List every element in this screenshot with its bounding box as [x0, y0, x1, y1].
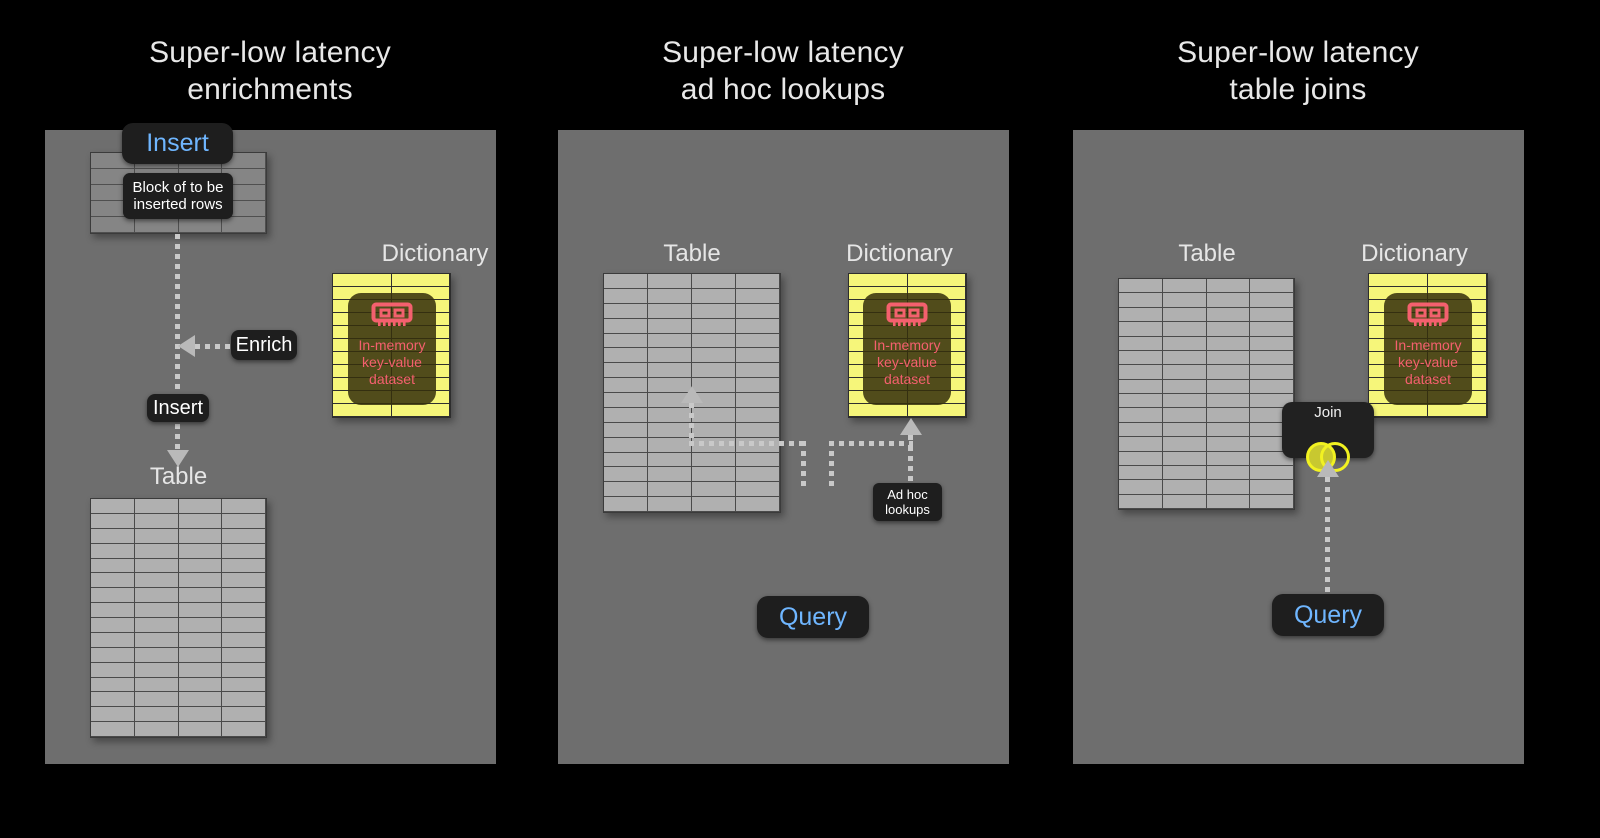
in-memory-overlay-3: In-memory key-value dataset: [1384, 293, 1472, 405]
grid-cell: [1163, 351, 1207, 365]
grid-cell: [135, 663, 179, 678]
grid-cell: [1119, 279, 1163, 293]
grid-cell: [692, 334, 736, 349]
grid-cell: [1207, 308, 1251, 322]
grid-cell: [692, 467, 736, 482]
grid-cell: [135, 692, 179, 707]
in-memory-text-2: In-memory key-value dataset: [874, 337, 941, 388]
grid-cell: [179, 603, 223, 618]
grid-cell: [1163, 365, 1207, 379]
grid-cell: [91, 529, 135, 544]
grid-cell: [135, 603, 179, 618]
grid-cell: [135, 514, 179, 529]
grid-cell: [1207, 380, 1251, 394]
grid-cell: [1250, 365, 1294, 379]
grid-cell: [222, 559, 266, 574]
grid-cell: [648, 453, 692, 468]
grid-cell: [91, 559, 135, 574]
grid-cell: [648, 363, 692, 378]
grid-cell: [1207, 437, 1251, 451]
grid-cell: [736, 334, 780, 349]
grid-cell: [91, 648, 135, 663]
grid-cell: [1163, 408, 1207, 422]
grid-cell: [91, 514, 135, 529]
grid-cell: [736, 348, 780, 363]
grid-cell: [222, 544, 266, 559]
grid-cell: [604, 467, 648, 482]
grid-cell: [604, 348, 648, 363]
grid-cell: [648, 408, 692, 423]
grid-cell: [91, 633, 135, 648]
connector-enrich-left: [195, 344, 231, 349]
grid-cell: [1428, 274, 1487, 287]
grid-cell: [222, 514, 266, 529]
grid-cell: [135, 544, 179, 559]
grid-cell: [1207, 322, 1251, 336]
grid-cell: [1369, 274, 1428, 287]
grid-cell: [604, 423, 648, 438]
grid-cell: [222, 722, 266, 737]
grid-cell: [222, 618, 266, 633]
badge-ad-hoc-lookups[interactable]: Ad hoc lookups: [873, 483, 942, 521]
grid-cell: [1250, 480, 1294, 494]
grid-cell: [179, 722, 223, 737]
grid-cell: [135, 707, 179, 722]
grid-cell: [604, 482, 648, 497]
grid-cell: [91, 678, 135, 693]
grid-cell: [736, 423, 780, 438]
grid-cell: [1119, 423, 1163, 437]
grid-cell: [1119, 308, 1163, 322]
grid-cell: [1250, 337, 1294, 351]
grid-cell: [1207, 480, 1251, 494]
grid-cell: [604, 304, 648, 319]
ram-icon: [1407, 302, 1449, 333]
grid-cell: [908, 274, 967, 287]
badge-block-caption[interactable]: Block of to be inserted rows: [123, 173, 233, 219]
grid-cell: [604, 334, 648, 349]
grid-cell: [692, 423, 736, 438]
grid-cell: [91, 588, 135, 603]
connector-query-right-riser: [829, 441, 834, 486]
grid-cell: [1163, 423, 1207, 437]
badge-enrich[interactable]: Enrich: [231, 330, 297, 360]
badge-insert-top[interactable]: Insert: [122, 123, 233, 164]
grid-cell: [1207, 495, 1251, 509]
grid-cell: [648, 467, 692, 482]
grid-cell: [135, 499, 179, 514]
connector-query-left-horizontal: [689, 441, 806, 446]
grid-cell: [91, 618, 135, 633]
grid-cell: [1428, 404, 1487, 417]
grid-cell: [648, 274, 692, 289]
grid-cell: [849, 274, 908, 287]
grid-cell: [736, 497, 780, 512]
grid-cell: [908, 404, 967, 417]
panel-ad-hoc-lookups: Table Dictionary In-memory key-value d: [558, 130, 1009, 764]
grid-cell: [1207, 365, 1251, 379]
grid-cell: [1119, 408, 1163, 422]
grid-cell: [222, 648, 266, 663]
grid-cell: [1250, 322, 1294, 336]
join-label: Join: [1314, 405, 1342, 421]
grid-cell: [736, 467, 780, 482]
grid-cell: [179, 529, 223, 544]
grid-cell: [736, 482, 780, 497]
grid-cell: [1250, 308, 1294, 322]
badge-query-2[interactable]: Query: [757, 596, 869, 638]
grid-cell: [1250, 380, 1294, 394]
grid-cell: [91, 707, 135, 722]
grid-cell: [692, 304, 736, 319]
grid-cell: [135, 573, 179, 588]
grid-cell: [222, 603, 266, 618]
grid-cell: [736, 319, 780, 334]
table-grid-3: [1118, 278, 1295, 510]
grid-cell: [1119, 495, 1163, 509]
grid-cell: [222, 217, 266, 233]
grid-cell: [604, 363, 648, 378]
grid-cell: [736, 408, 780, 423]
grid-cell: [179, 678, 223, 693]
table-label-2: Table: [603, 240, 781, 268]
connector-query-left-riser: [801, 441, 806, 486]
badge-join[interactable]: Join: [1282, 402, 1374, 458]
panel-enrichments: Insert Block of to be inserted rows Inse…: [45, 130, 496, 764]
grid-cell: [1163, 337, 1207, 351]
grid-cell: [179, 514, 223, 529]
panel-table-joins: Table Dictionary In-memory key-value d: [1073, 130, 1524, 764]
grid-cell: [1250, 466, 1294, 480]
table-label-1: Table: [90, 463, 267, 491]
grid-cell: [1207, 337, 1251, 351]
grid-cell: [1207, 452, 1251, 466]
grid-cell: [91, 544, 135, 559]
grid-cell: [604, 319, 648, 334]
grid-cell: [1119, 466, 1163, 480]
grid-cell: [648, 319, 692, 334]
grid-cell: [179, 559, 223, 574]
connector-join-vertical: [1325, 477, 1330, 595]
grid-cell: [179, 648, 223, 663]
grid-cell: [648, 423, 692, 438]
grid-cell: [1207, 423, 1251, 437]
grid-cell: [135, 217, 179, 233]
grid-cell: [736, 378, 780, 393]
grid-cell: [91, 692, 135, 707]
grid-cell: [135, 618, 179, 633]
grid-cell: [222, 529, 266, 544]
grid-cell: [604, 453, 648, 468]
grid-cell: [135, 529, 179, 544]
grid-cell: [1119, 351, 1163, 365]
grid-cell: [1119, 380, 1163, 394]
grid-cell: [222, 633, 266, 648]
grid-cell: [1163, 480, 1207, 494]
grid-cell: [849, 404, 908, 417]
badge-insert-middle[interactable]: Insert: [147, 394, 209, 422]
grid-cell: [736, 393, 780, 408]
grid-cell: [692, 319, 736, 334]
grid-cell: [91, 573, 135, 588]
in-memory-text-1: In-memory key-value dataset: [359, 337, 426, 388]
grid-cell: [736, 289, 780, 304]
grid-cell: [91, 603, 135, 618]
grid-cell: [1163, 322, 1207, 336]
grid-cell: [179, 663, 223, 678]
table-label-3: Table: [1118, 240, 1296, 268]
grid-cell: [1207, 351, 1251, 365]
grid-cell: [1163, 466, 1207, 480]
dictionary-label-1: Dictionary: [320, 240, 550, 268]
dictionary-label-2: Dictionary: [790, 240, 1009, 268]
arrow-enrich-left: [178, 335, 195, 357]
grid-cell: [1163, 308, 1207, 322]
grid-cell: [604, 274, 648, 289]
in-memory-overlay-2: In-memory key-value dataset: [863, 293, 951, 405]
grid-cell: [179, 499, 223, 514]
grid-cell: [692, 289, 736, 304]
grid-cell: [1250, 495, 1294, 509]
ram-icon: [886, 302, 928, 333]
grid-cell: [222, 663, 266, 678]
grid-cell: [692, 497, 736, 512]
grid-cell: [604, 393, 648, 408]
grid-cell: [692, 348, 736, 363]
grid-cell: [179, 707, 223, 722]
grid-cell: [1163, 452, 1207, 466]
in-memory-overlay-1: In-memory key-value dataset: [348, 293, 436, 405]
grid-cell: [692, 408, 736, 423]
grid-cell: [1207, 466, 1251, 480]
grid-cell: [1163, 495, 1207, 509]
connector-query-right-horizontal: [829, 441, 913, 446]
grid-cell: [648, 497, 692, 512]
grid-cell: [692, 453, 736, 468]
grid-cell: [648, 289, 692, 304]
grid-cell: [91, 499, 135, 514]
grid-cell: [179, 692, 223, 707]
grid-cell: [1119, 452, 1163, 466]
grid-cell: [179, 618, 223, 633]
grid-cell: [692, 482, 736, 497]
grid-cell: [692, 363, 736, 378]
grid-cell: [692, 274, 736, 289]
grid-cell: [179, 573, 223, 588]
arrow-query-to-dictionary: [900, 418, 922, 435]
grid-cell: [1369, 404, 1428, 417]
grid-cell: [333, 274, 392, 287]
connector-dictionary-vertical-2: [908, 446, 913, 486]
grid-cell: [736, 304, 780, 319]
grid-cell: [222, 499, 266, 514]
grid-cell: [736, 453, 780, 468]
grid-cell: [648, 482, 692, 497]
grid-cell: [135, 588, 179, 603]
grid-cell: [1163, 279, 1207, 293]
in-memory-text-3: In-memory key-value dataset: [1395, 337, 1462, 388]
grid-cell: [604, 438, 648, 453]
grid-cell: [736, 363, 780, 378]
badge-query-3[interactable]: Query: [1272, 594, 1384, 636]
grid-cell: [179, 588, 223, 603]
dictionary-label-3: Dictionary: [1305, 240, 1524, 268]
grid-cell: [1119, 337, 1163, 351]
grid-cell: [392, 404, 451, 417]
panel-2-title: Super-low latency ad hoc lookups: [558, 34, 1008, 108]
grid-cell: [1119, 437, 1163, 451]
grid-cell: [1250, 351, 1294, 365]
grid-cell: [333, 404, 392, 417]
grid-cell: [135, 633, 179, 648]
arrow-query-to-join: [1317, 460, 1339, 477]
grid-cell: [1163, 293, 1207, 307]
ram-icon: [371, 302, 413, 333]
grid-cell: [1163, 437, 1207, 451]
grid-cell: [222, 692, 266, 707]
grid-cell: [91, 217, 135, 233]
panel-1-title: Super-low latency enrichments: [45, 34, 495, 108]
grid-cell: [648, 334, 692, 349]
grid-cell: [1250, 293, 1294, 307]
grid-cell: [179, 633, 223, 648]
table-grid-1: [90, 498, 267, 738]
grid-cell: [179, 217, 223, 233]
grid-cell: [222, 588, 266, 603]
grid-cell: [222, 707, 266, 722]
grid-cell: [736, 274, 780, 289]
grid-cell: [222, 573, 266, 588]
grid-cell: [1207, 408, 1251, 422]
grid-cell: [135, 559, 179, 574]
grid-cell: [1119, 365, 1163, 379]
grid-cell: [91, 722, 135, 737]
grid-cell: [1250, 279, 1294, 293]
grid-cell: [604, 289, 648, 304]
grid-cell: [1207, 293, 1251, 307]
grid-cell: [648, 348, 692, 363]
grid-cell: [1207, 279, 1251, 293]
grid-cell: [91, 663, 135, 678]
grid-cell: [135, 648, 179, 663]
grid-cell: [179, 544, 223, 559]
grid-cell: [604, 408, 648, 423]
grid-cell: [1119, 480, 1163, 494]
grid-cell: [604, 378, 648, 393]
grid-cell: [648, 304, 692, 319]
grid-cell: [135, 678, 179, 693]
grid-cell: [648, 438, 692, 453]
diagram-canvas: Super-low latency enrichments Insert Blo…: [0, 0, 1600, 838]
panel-3-title: Super-low latency table joins: [1073, 34, 1523, 108]
grid-cell: [1119, 394, 1163, 408]
arrow-query-to-table: [681, 386, 703, 403]
grid-cell: [135, 722, 179, 737]
connector-table-vertical: [689, 403, 694, 446]
grid-cell: [1163, 380, 1207, 394]
grid-cell: [222, 678, 266, 693]
grid-cell: [1119, 293, 1163, 307]
grid-cell: [604, 497, 648, 512]
grid-cell: [1207, 394, 1251, 408]
grid-cell: [1119, 322, 1163, 336]
grid-cell: [392, 274, 451, 287]
grid-cell: [1163, 394, 1207, 408]
